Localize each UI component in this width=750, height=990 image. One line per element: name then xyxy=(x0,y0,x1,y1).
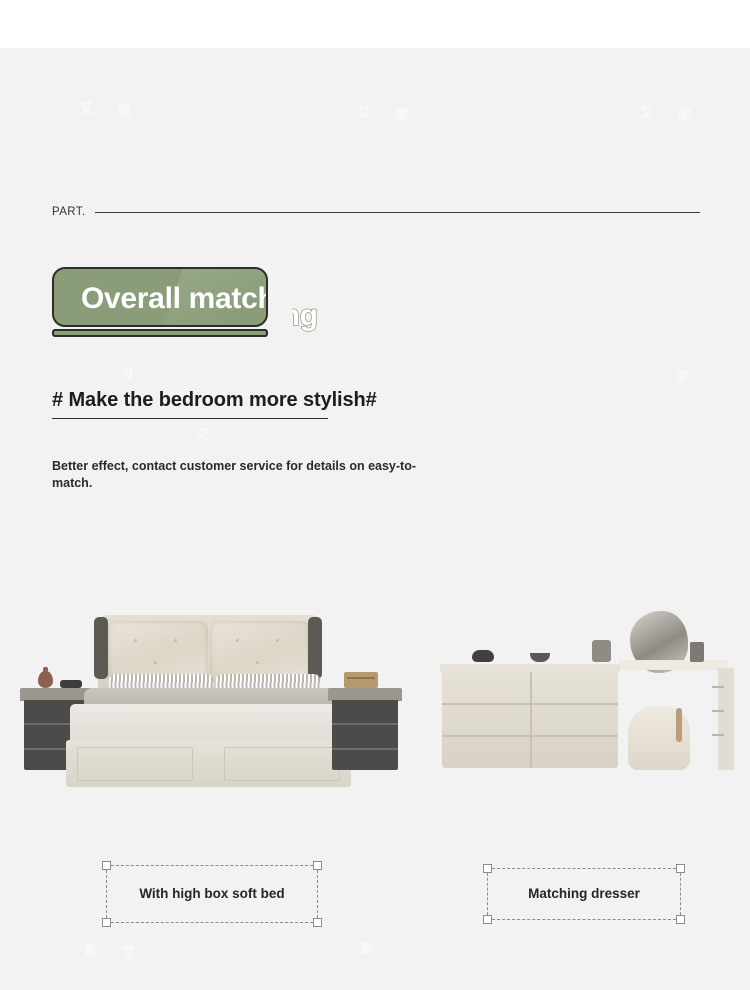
caption-box-dresser[interactable]: Matching dresser xyxy=(487,868,681,920)
resize-handle-top-left[interactable] xyxy=(102,861,111,870)
resize-handle-bottom-left[interactable] xyxy=(102,918,111,927)
resize-handle-top-left[interactable] xyxy=(483,864,492,873)
vanity-side-shelf xyxy=(718,668,734,770)
overall-matching-badge: Overall matching Overall matching xyxy=(52,267,472,342)
vase-decor xyxy=(38,671,53,688)
watermark: 艾 xyxy=(122,364,136,383)
product-image-dresser xyxy=(432,600,742,805)
books-decor xyxy=(344,672,378,688)
resize-handle-bottom-right[interactable] xyxy=(313,918,322,927)
part-label: PART. xyxy=(52,206,86,218)
drawer-line xyxy=(332,723,398,725)
brush-holder-decor xyxy=(690,642,704,662)
badge-pill: Overall matching xyxy=(52,267,268,327)
watermark: 家 xyxy=(360,938,374,957)
watermark: 家 xyxy=(118,100,132,119)
watermark: 家 xyxy=(676,366,690,385)
badge-underline-bar xyxy=(52,329,268,337)
vanity-desktop xyxy=(618,660,728,670)
bed-footboard xyxy=(66,740,351,787)
canister-decor xyxy=(592,640,611,662)
dresser-body xyxy=(442,672,618,768)
teapot-decor xyxy=(472,650,494,662)
resize-handle-bottom-right[interactable] xyxy=(676,915,685,924)
watermark: 艾 xyxy=(122,942,136,961)
nightstand-body xyxy=(332,700,398,770)
resize-handle-bottom-left[interactable] xyxy=(483,915,492,924)
product-image-soft-bed xyxy=(8,600,408,805)
watermark: 艾 xyxy=(640,102,654,121)
headboard-wing-left xyxy=(94,617,108,679)
drawer-line xyxy=(332,748,398,750)
resize-handle-top-right[interactable] xyxy=(313,861,322,870)
drawer-line xyxy=(530,672,532,768)
watermark: 艾 xyxy=(80,98,94,117)
footboard-panel xyxy=(224,747,340,781)
page-title: # Make the bedroom more stylish# xyxy=(52,389,377,412)
stool-strap xyxy=(676,708,682,742)
watermark: 家 xyxy=(396,104,410,123)
product-detail-page: 艾 家 艾 家 艾 家 艾 家 艾 家 艾 家 PART. Overall ma… xyxy=(0,0,750,990)
watermark: 家 xyxy=(84,940,98,959)
nightstand-right xyxy=(328,688,402,770)
footboard-panel xyxy=(77,747,193,781)
watermark: 艾 xyxy=(196,424,210,443)
part-divider: PART. xyxy=(52,203,700,221)
caption-box-soft-bed[interactable]: With high box soft bed xyxy=(106,865,318,923)
part-rule xyxy=(95,212,700,213)
caption-text: Matching dresser xyxy=(520,885,648,903)
headline-underline xyxy=(52,418,328,419)
content-canvas: 艾 家 艾 家 艾 家 艾 家 艾 家 艾 家 PART. Overall ma… xyxy=(0,48,750,990)
resize-handle-top-right[interactable] xyxy=(676,864,685,873)
caption-text: With high box soft bed xyxy=(131,885,292,903)
tray-decor xyxy=(60,680,82,688)
badge-label: Overall matching xyxy=(81,281,268,317)
watermark: 家 xyxy=(678,104,692,123)
watermark: 艾 xyxy=(358,102,372,121)
vanity-stool xyxy=(628,706,690,770)
bowl-decor xyxy=(530,653,550,662)
headboard-wing-right xyxy=(308,617,322,679)
subcopy-text: Better effect, contact customer service … xyxy=(52,458,442,492)
